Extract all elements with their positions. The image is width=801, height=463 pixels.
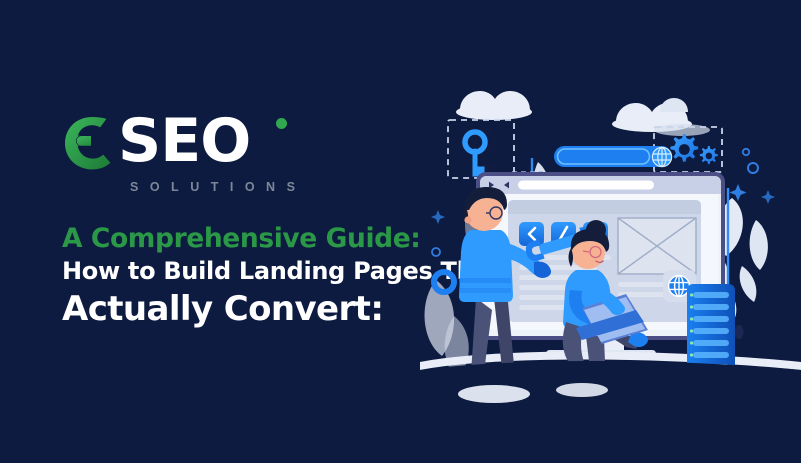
seo-banner: SEO SOLUTIONS A Comprehensive Guide: How… bbox=[0, 0, 801, 463]
headline-line-2: How to Build Landing Pages That bbox=[62, 255, 462, 287]
hair-bun bbox=[586, 220, 606, 240]
globe-icon bbox=[669, 276, 690, 297]
logo: SEO SOLUTIONS bbox=[62, 112, 442, 178]
floor bbox=[420, 361, 801, 463]
hero-illustration bbox=[420, 70, 801, 463]
logo-wordmark: SEO bbox=[118, 108, 250, 174]
brand-block: SEO SOLUTIONS bbox=[62, 112, 442, 178]
logo-dot-icon bbox=[276, 118, 287, 129]
logo-tagline: SOLUTIONS bbox=[130, 180, 306, 194]
keys-badge bbox=[448, 120, 514, 178]
gear-icon bbox=[670, 134, 698, 162]
headline-line-1: A Comprehensive Guide: bbox=[62, 222, 462, 255]
image-placeholder bbox=[618, 218, 696, 274]
headline-line-3: Actually Convert: bbox=[62, 287, 462, 331]
globe-icon bbox=[652, 147, 671, 166]
headline-block: A Comprehensive Guide: How to Build Land… bbox=[62, 222, 462, 331]
browser-chrome bbox=[480, 176, 721, 194]
search-bar-floating bbox=[554, 146, 672, 167]
gear-icon-small bbox=[700, 146, 718, 164]
keys-icon bbox=[465, 131, 494, 174]
url-bar bbox=[518, 181, 654, 190]
clouds bbox=[456, 91, 710, 136]
logo-e-icon bbox=[62, 114, 122, 172]
